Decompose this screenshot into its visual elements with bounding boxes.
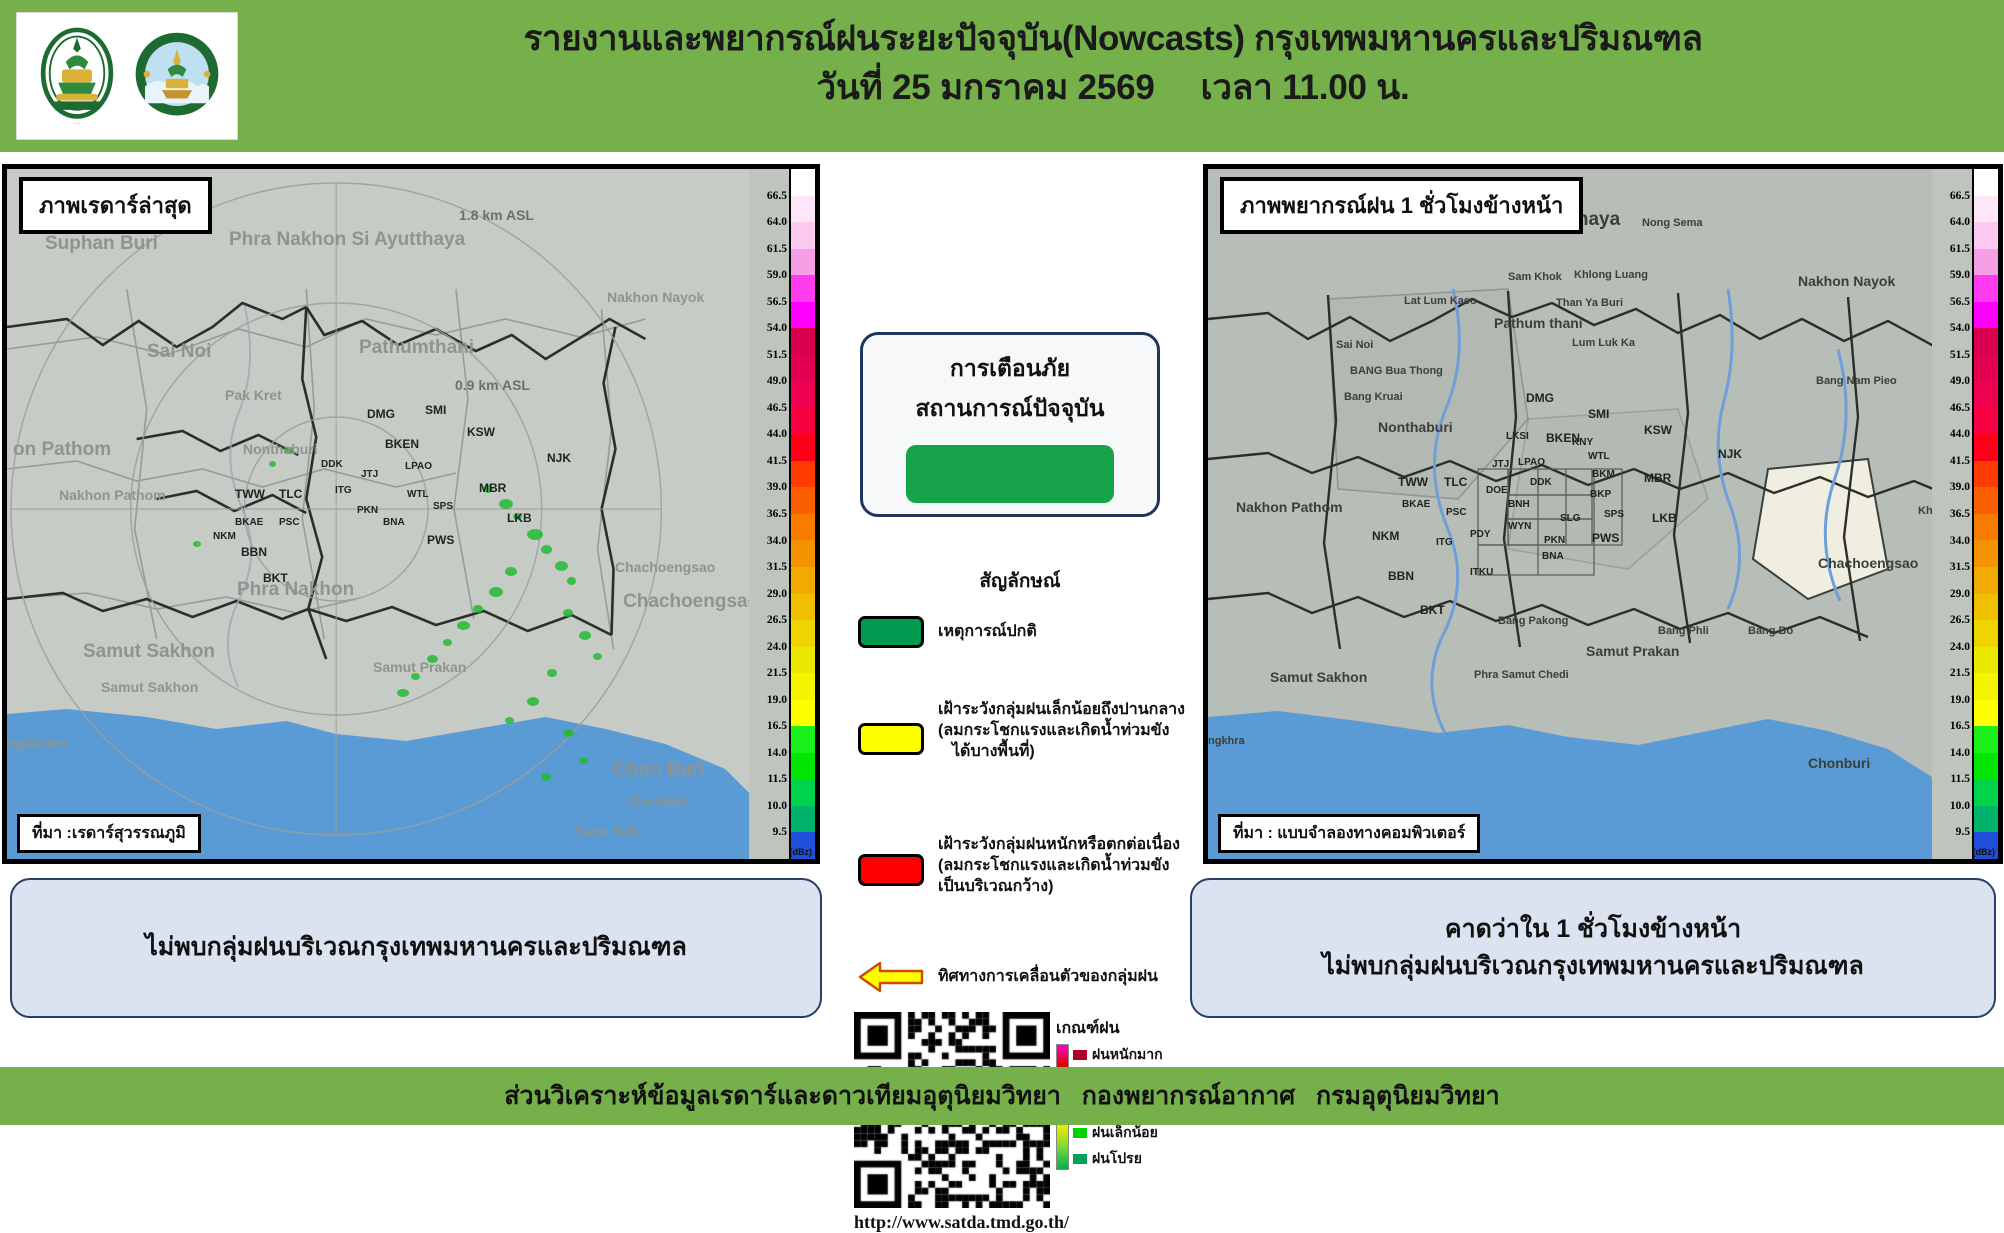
colorbar-band [1974, 726, 1998, 753]
colorbar-band [1974, 355, 1998, 382]
colorbar-tick: 34.0 [767, 535, 787, 547]
colorbar-tick: 44.0 [1950, 428, 1970, 440]
colorbar-band [791, 700, 815, 727]
colorbar-band [791, 647, 815, 674]
radar-panel-caption: ภาพเรดาร์ล่าสุด [19, 177, 212, 234]
colorbar-band [791, 302, 815, 329]
page-title: รายงานและพยากรณ์ฝนระยะปัจจุบัน(Nowcasts)… [238, 18, 1988, 109]
radar-map-canvas[interactable]: Suphan Buri Phra Nakhon Si Ayutthaya Nak… [7, 169, 815, 859]
forecast-summary-line2: ไม่พบกลุ่มฝนบริเวณกรุงเทพมหานครและปริมณฑ… [1322, 948, 1864, 986]
colorbar-tick: 26.5 [1950, 614, 1970, 626]
colorbar-band [1974, 222, 1998, 249]
forecast-map-panel[interactable]: Suphan Buri Phra Nakhon Si Ayutthaya Non… [1203, 164, 2003, 864]
rain-scale-chip [1073, 1050, 1087, 1060]
colorbar-tick-labels: 66.564.061.559.056.554.051.549.046.544.0… [1932, 169, 1972, 859]
colorbar-tick: 11.5 [768, 773, 788, 785]
colorbar-band [791, 196, 815, 223]
colorbar-band [1974, 408, 1998, 435]
colorbar-band [1974, 620, 1998, 647]
colorbar-band [791, 249, 815, 276]
legend-swatch-green [858, 616, 924, 648]
colorbar-tick: 64.0 [767, 216, 787, 228]
colorbar-tick: 61.5 [1950, 243, 1970, 255]
colorbar-band [1974, 275, 1998, 302]
colorbar-tick: 29.0 [767, 588, 787, 600]
colorbar-band [791, 620, 815, 647]
forecast-map-vectors [1208, 169, 1998, 859]
legend-label-heavy: เฝ้าระวังกลุ่มฝนหนักหรือตกต่อเนื่อง (ลมก… [938, 834, 1180, 897]
colorbar-tick: 9.5 [773, 826, 787, 838]
colorbar-band [791, 726, 815, 753]
colorbar-tick: 39.0 [1950, 481, 1970, 493]
forecast-dbz-colorbar: 66.564.061.559.056.554.051.549.046.544.0… [1932, 169, 1998, 859]
colorbar-tick: 14.0 [1950, 747, 1970, 759]
forecast-panel-caption: ภาพพยากรณ์ฝน 1 ชั่วโมงข้างหน้า [1220, 177, 1583, 234]
colorbar-band [791, 594, 815, 621]
colorbar-band [791, 434, 815, 461]
colorbar-band [1974, 487, 1998, 514]
colorbar-band [1974, 249, 1998, 276]
legend-swatch-yellow [858, 723, 924, 755]
colorbar-tick: 51.5 [767, 349, 787, 361]
legend-label-normal: เหตุการณ์ปกติ [938, 621, 1037, 642]
colorbar-band [791, 540, 815, 567]
colorbar-tick: 16.5 [1950, 720, 1970, 732]
colorbar-tick: 31.5 [767, 561, 787, 573]
rain-scale-label: ฝนหนักมาก [1092, 1044, 1163, 1066]
colorbar-tick: 19.0 [1950, 694, 1970, 706]
page-title-line2: วันที่ 25 มกราคม 2569เวลา 11.00 น. [238, 67, 1988, 110]
rain-scale-title: เกณฑ์ฝน [1056, 1016, 1206, 1041]
agency-logos: ..... [16, 12, 238, 140]
colorbar-tick: 31.5 [1950, 561, 1970, 573]
footer-text: ส่วนวิเคราะห์ข้อมูลเรดาร์และดาวเทียมอุตุ… [504, 1076, 1499, 1116]
colorbar-tick: 9.5 [1956, 826, 1970, 838]
colorbar-band [791, 806, 815, 833]
colorbar-tick: 46.5 [1950, 402, 1970, 414]
radar-dbz-colorbar: 66.564.061.559.056.554.051.549.046.544.0… [749, 169, 815, 859]
colorbar-band [1974, 673, 1998, 700]
colorbar-tick: 19.0 [767, 694, 787, 706]
legend-title: สัญลักษณ์ [840, 566, 1200, 596]
colorbar-band [1974, 567, 1998, 594]
legend-label-light-moderate: เฝ้าระวังกลุ่มฝนเล็กน้อยถึงปานกลาง (ลมกร… [938, 699, 1185, 762]
colorbar-tick: 59.0 [1950, 269, 1970, 281]
colorbar-band [1974, 753, 1998, 780]
colorbar-tick: 66.5 [1950, 190, 1970, 202]
tmd-royal-seal-logo: ..... [30, 20, 124, 132]
colorbar-tick-labels: 66.564.061.559.056.554.051.549.046.544.0… [749, 169, 789, 859]
colorbar-band [791, 328, 815, 355]
alert-title-line2: สถานการณ์ปัจจุบัน [915, 391, 1104, 427]
colorbar-tick: 24.0 [767, 641, 787, 653]
colorbar-band [1974, 779, 1998, 806]
radar-panel-source: ที่มา :เรดาร์สุวรรณภูมิ [17, 814, 201, 853]
colorbar-tick: 36.5 [1950, 508, 1970, 520]
colorbar-band [1974, 594, 1998, 621]
radar-summary-box: ไม่พบกลุ่มฝนบริเวณกรุงเทพมหานครและปริมณฑ… [10, 878, 822, 1018]
colorbar-tick: 59.0 [767, 269, 787, 281]
colorbar-band [791, 355, 815, 382]
alert-status-card: การเตือนภัย สถานการณ์ปัจจุบัน [860, 332, 1160, 517]
colorbar-band [791, 673, 815, 700]
colorbar-band [791, 381, 815, 408]
colorbar-band [1974, 514, 1998, 541]
colorbar-band [1974, 169, 1998, 196]
main-content: Suphan Buri Phra Nakhon Si Ayutthaya Nak… [0, 152, 2004, 1067]
rain-scale-chip [1073, 1154, 1087, 1164]
colorbar-tick: 21.5 [1950, 667, 1970, 679]
colorbar-color-strip [789, 169, 815, 859]
page-title-line1: รายงานและพยากรณ์ฝนระยะปัจจุบัน(Nowcasts)… [238, 18, 1988, 61]
colorbar-band [791, 275, 815, 302]
colorbar-tick: 44.0 [767, 428, 787, 440]
legend-item-normal: เหตุการณ์ปกติ [858, 616, 1188, 648]
colorbar-tick: 10.0 [1950, 800, 1970, 812]
colorbar-tick: 61.5 [767, 243, 787, 255]
colorbar-band [791, 753, 815, 780]
colorbar-band [1974, 381, 1998, 408]
page-footer: ส่วนวิเคราะห์ข้อมูลเรดาร์และดาวเทียมอุตุ… [0, 1067, 2004, 1125]
colorbar-tick: 41.5 [767, 455, 787, 467]
rain-scale-item: ฝนโปรย [1073, 1148, 1168, 1170]
colorbar-tick: 21.5 [767, 667, 787, 679]
colorbar-tick: 39.0 [767, 481, 787, 493]
colorbar-tick: 49.0 [1950, 375, 1970, 387]
rain-scale-label: ฝนโปรย [1092, 1148, 1142, 1170]
colorbar-band [791, 408, 815, 435]
colorbar-band [791, 567, 815, 594]
colorbar-band [1974, 806, 1998, 833]
colorbar-band [1974, 302, 1998, 329]
colorbar-band [1974, 434, 1998, 461]
forecast-map-canvas[interactable]: Suphan Buri Phra Nakhon Si Ayutthaya Non… [1208, 169, 1998, 859]
legend-item-direction: ทิศทางการเคลื่อนตัวของกลุ่มฝน [858, 959, 1188, 995]
colorbar-tick: 24.0 [1950, 641, 1970, 653]
colorbar-band [1974, 196, 1998, 223]
colorbar-tick: 66.5 [767, 190, 787, 202]
alert-status-badge [906, 445, 1114, 503]
colorbar-band [791, 169, 815, 196]
colorbar-tick: 51.5 [1950, 349, 1970, 361]
colorbar-tick: 64.0 [1950, 216, 1970, 228]
legend-item-heavy: เฝ้าระวังกลุ่มฝนหนักหรือตกต่อเนื่อง (ลมก… [858, 834, 1188, 897]
colorbar-tick: 16.5 [767, 720, 787, 732]
page-header: ..... รายงานและพยากรณ์ฝนระยะปัจจุบัน(Now… [0, 0, 2004, 152]
colorbar-tick: 34.0 [1950, 535, 1970, 547]
colorbar-tick: 14.0 [767, 747, 787, 759]
rain-scale-chip [1073, 1128, 1087, 1138]
alert-title-line1: การเตือนภัย [950, 351, 1070, 387]
colorbar-tick: 54.0 [1950, 322, 1970, 334]
colorbar-tick: 56.5 [1950, 296, 1970, 308]
colorbar-band [1974, 540, 1998, 567]
colorbar-tick: 46.5 [767, 402, 787, 414]
report-time: เวลา 11.00 น. [1201, 68, 1410, 107]
colorbar-band [791, 461, 815, 488]
colorbar-tick: 49.0 [767, 375, 787, 387]
colorbar-band [791, 779, 815, 806]
colorbar-unit: (dBz) [1973, 847, 1996, 857]
colorbar-tick: 29.0 [1950, 588, 1970, 600]
rain-scale-item: ฝนเล็กน้อย [1073, 1122, 1168, 1144]
colorbar-tick: 26.5 [767, 614, 787, 626]
legend-item-light-moderate: เฝ้าระวังกลุ่มฝนเล็กน้อยถึงปานกลาง (ลมกร… [858, 699, 1188, 762]
radar-summary-line1: ไม่พบกลุ่มฝนบริเวณกรุงเทพมหานครและปริมณฑ… [145, 929, 687, 967]
colorbar-tick: 56.5 [767, 296, 787, 308]
radar-map-vectors [7, 169, 815, 859]
colorbar-band [791, 514, 815, 541]
radar-map-panel[interactable]: Suphan Buri Phra Nakhon Si Ayutthaya Nak… [2, 164, 820, 864]
colorbar-band [1974, 461, 1998, 488]
rain-scale-label: ฝนเล็กน้อย [1092, 1122, 1158, 1144]
colorbar-band [1974, 328, 1998, 355]
colorbar-band [1974, 700, 1998, 727]
colorbar-tick: 11.5 [1951, 773, 1971, 785]
colorbar-tick: 41.5 [1950, 455, 1970, 467]
legend-label-direction: ทิศทางการเคลื่อนตัวของกลุ่มฝน [938, 966, 1158, 987]
thai-meteorological-department-logo [130, 20, 224, 132]
forecast-summary-line1: คาดว่าใน 1 ชั่วโมงข้างหน้า [1445, 911, 1741, 949]
rain-scale-item: ฝนหนักมาก [1073, 1044, 1168, 1066]
colorbar-color-strip [1972, 169, 1998, 859]
colorbar-tick: 10.0 [767, 800, 787, 812]
qr-url-text[interactable]: http://www.satda.tmd.go.th/ [854, 1212, 1200, 1233]
movement-arrow-icon [858, 959, 924, 995]
colorbar-tick: 36.5 [767, 508, 787, 520]
report-date: วันที่ 25 มกราคม 2569 [816, 68, 1154, 107]
svg-text:.....: ..... [74, 120, 81, 125]
colorbar-tick: 54.0 [767, 322, 787, 334]
colorbar-band [1974, 647, 1998, 674]
forecast-panel-source: ที่มา : แบบจำลองทางคอมพิวเตอร์ [1218, 814, 1480, 853]
colorbar-unit: (dBz) [790, 847, 813, 857]
colorbar-band [791, 222, 815, 249]
forecast-summary-box: คาดว่าใน 1 ชั่วโมงข้างหน้า ไม่พบกลุ่มฝนบ… [1190, 878, 1996, 1018]
colorbar-band [791, 487, 815, 514]
legend-swatch-red [858, 854, 924, 886]
